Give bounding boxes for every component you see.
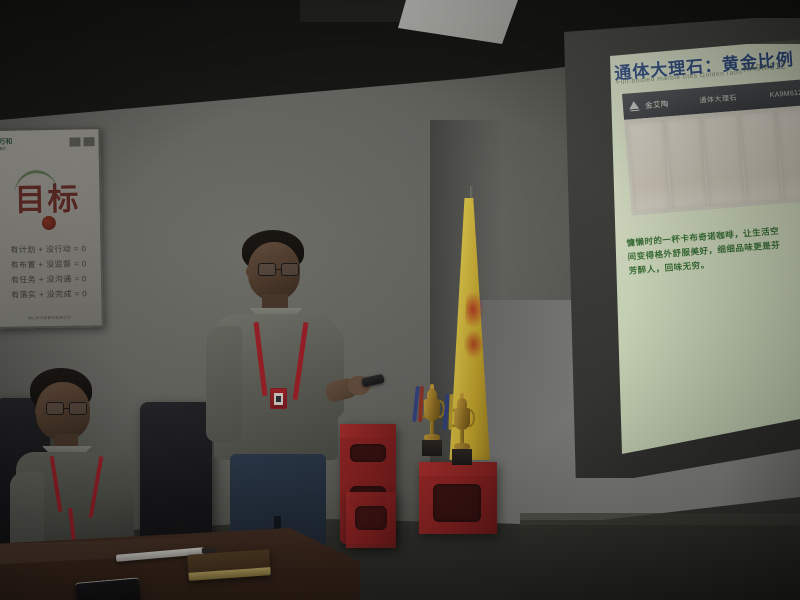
presenter-glasses (258, 263, 299, 276)
wall-baseboard (520, 513, 800, 525)
slide-product-name: 通体大理石 (699, 93, 737, 106)
presenter-arm-right (308, 326, 344, 418)
lens-right (69, 402, 87, 415)
trophy-cup (454, 408, 470, 430)
photo-scene: 通体大理石：黄金比例 Full-bodied marble tiles Gold… (0, 0, 800, 600)
presenter-arm-left (206, 326, 242, 442)
tile-panel (665, 117, 708, 210)
lens-right (281, 263, 299, 276)
presenter-id-badge (270, 388, 287, 409)
trophy-base (422, 440, 442, 456)
attendee-ear (35, 406, 42, 417)
trophy-base (452, 449, 472, 465)
lens-left (258, 263, 276, 276)
projection-screen: 通体大理石：黄金比例 Full-bodied marble tiles Gold… (556, 18, 800, 478)
slide-product-panel: 金艾陶 通体大理石 KA9M612 (622, 79, 800, 222)
tile-panel (740, 111, 783, 204)
tile-panel (702, 114, 745, 207)
lens-left (46, 402, 64, 415)
attendee-glasses (46, 402, 87, 415)
trophy-stem (460, 430, 464, 444)
trophy-cup (424, 399, 440, 421)
presenter-ear (246, 266, 253, 277)
tile-panel (627, 120, 670, 213)
tile-sample-strip (624, 105, 800, 216)
badge-photo-icon (274, 393, 283, 405)
presenter-remote[interactable] (361, 374, 384, 387)
room-floor-right (520, 520, 800, 600)
red-stool-pedestal (419, 462, 497, 534)
attendee-arm-left (10, 472, 44, 552)
slide-brand-name: 金艾陶 (645, 98, 670, 111)
trophy-stem (430, 421, 434, 435)
wall-poster: 万和 建材 目标 有计划 + 没行动 = 0 有布置 + 没监督 = 0 有任务… (0, 127, 104, 329)
slide-header-code: KA9M612 (769, 89, 800, 99)
stool-opening (433, 484, 481, 522)
poster-shadow-overlay (0, 129, 102, 327)
brand-logo-icon (629, 101, 641, 112)
